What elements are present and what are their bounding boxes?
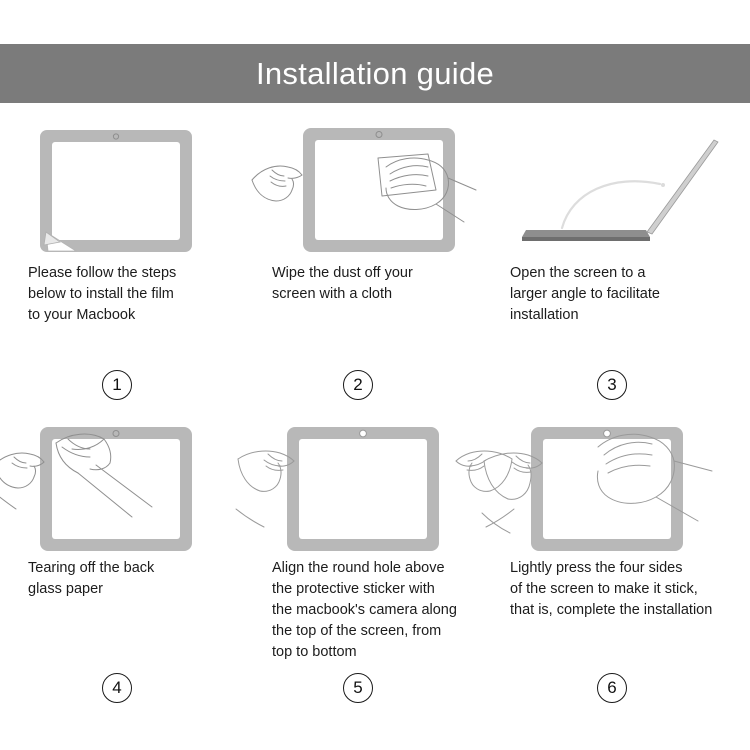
- illustration-laptop-open-angle: [500, 118, 750, 263]
- step-item-5: Align the round hole above the protectiv…: [250, 413, 500, 708]
- illustration-wipe-screen-cloth: [250, 118, 500, 263]
- step-number-badge-4: 4: [102, 673, 132, 703]
- step-item-6: Lightly press the four sides of the scre…: [500, 413, 750, 708]
- step-caption-5: Align the round hole above the protectiv…: [250, 558, 500, 663]
- step-number-badge-1: 1: [102, 370, 132, 400]
- illustration-press-four-sides: [500, 413, 750, 558]
- step-caption-4: Tearing off the back glass paper: [0, 558, 250, 646]
- illustration-tablet-peeling-film: [0, 118, 250, 263]
- step-caption-1: Please follow the steps below to install…: [0, 263, 250, 351]
- step-number-badge-2: 2: [343, 370, 373, 400]
- step-item-2: Wipe the dust off your screen with a clo…: [250, 118, 500, 413]
- step-item-3: Open the screen to a larger angle to fac…: [500, 118, 750, 413]
- illustration-align-film-two-hands: [250, 413, 500, 558]
- page-title: Installation guide: [256, 58, 494, 89]
- step-caption-6: Lightly press the four sides of the scre…: [500, 558, 750, 646]
- step-caption-2: Wipe the dust off your screen with a clo…: [250, 263, 500, 351]
- step-number-badge-5: 5: [343, 673, 373, 703]
- step-number-badge-3: 3: [597, 370, 627, 400]
- installation-steps-grid: Please follow the steps below to install…: [0, 118, 750, 708]
- step-caption-3: Open the screen to a larger angle to fac…: [500, 263, 750, 351]
- step-item-4: Tearing off the back glass paper 4: [0, 413, 250, 708]
- header-banner: Installation guide: [0, 44, 750, 103]
- step-item-1: Please follow the steps below to install…: [0, 118, 250, 413]
- illustration-tear-back-paper: [0, 413, 250, 558]
- step-number-badge-6: 6: [597, 673, 627, 703]
